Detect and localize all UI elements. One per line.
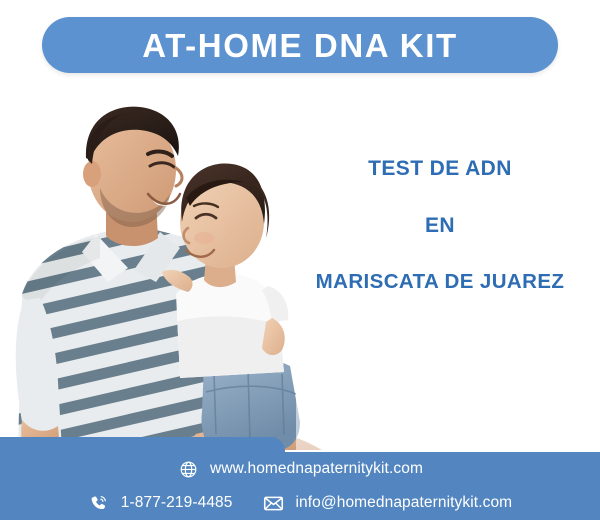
footer-contact-bar: www.homednapaternitykit.com 1-877-219-44… <box>0 452 600 520</box>
website-label: www.homednapaternitykit.com <box>210 461 423 477</box>
phone-link[interactable]: 1-877-219-4485 <box>88 492 233 514</box>
email-link[interactable]: info@homednapaternitykit.com <box>263 492 513 514</box>
dna-kit-promo-banner: AT-HOME DNA KIT <box>0 0 600 520</box>
website-link[interactable]: www.homednapaternitykit.com <box>177 458 423 480</box>
family-photo <box>0 82 330 450</box>
family-photo-illustration <box>0 82 330 450</box>
page-title: AT-HOME DNA KIT <box>142 29 457 62</box>
headline-line-1: TEST DE ADN <box>290 158 590 179</box>
email-label: info@homednapaternitykit.com <box>296 495 513 511</box>
headline-block: TEST DE ADN EN MARISCATA DE JUAREZ <box>290 158 590 293</box>
headline-line-2: EN <box>290 215 590 236</box>
headline-line-3: MARISCATA DE JUAREZ <box>290 272 590 293</box>
footer-row-phone-email: 1-877-219-4485 info@homednapaternitykit.… <box>0 486 600 520</box>
title-pill: AT-HOME DNA KIT <box>42 17 558 73</box>
phone-icon <box>88 492 110 514</box>
globe-icon <box>177 458 199 480</box>
envelope-icon <box>263 492 285 514</box>
footer-row-website: www.homednapaternitykit.com <box>0 452 600 486</box>
phone-label: 1-877-219-4485 <box>121 495 233 511</box>
